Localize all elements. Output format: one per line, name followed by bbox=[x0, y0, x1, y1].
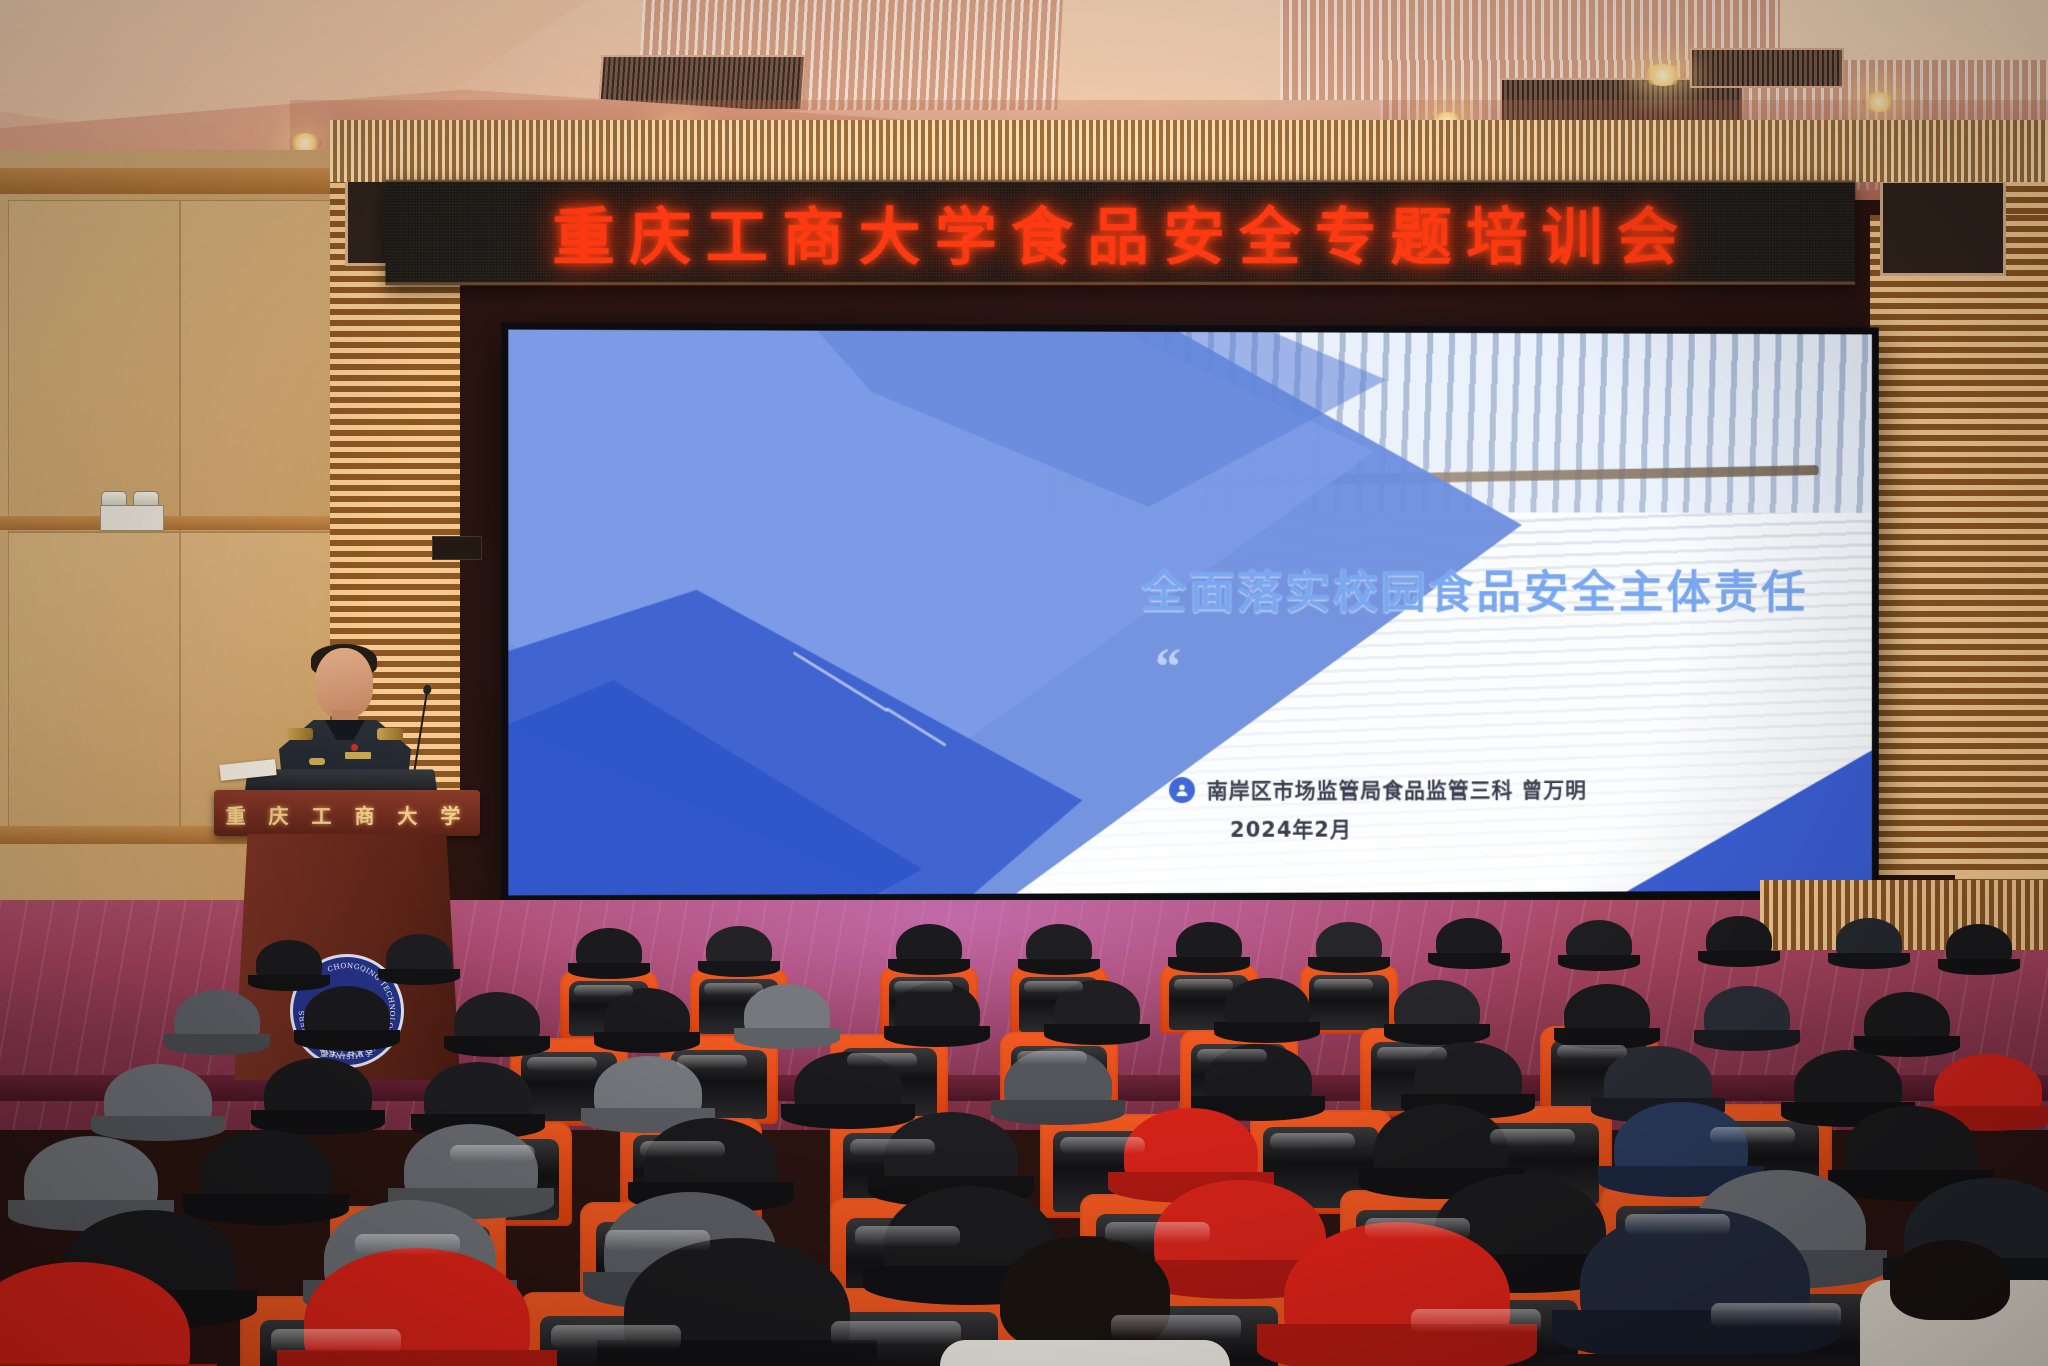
cap bbox=[1394, 980, 1480, 1042]
cap bbox=[174, 990, 260, 1052]
cap bbox=[1564, 984, 1650, 1046]
audience-member-front bbox=[960, 1236, 1220, 1366]
presentation-screen: 全面落实校园食品安全主体责任 “ 南岸区市场监管局食品监管三科 曾万明 2024… bbox=[501, 322, 1879, 902]
podium-label: 重 庆 工 商 大 学 bbox=[214, 800, 480, 829]
slide-date: 2024年2月 bbox=[1230, 814, 1352, 844]
downlight-icon bbox=[1862, 92, 1896, 112]
wall-switch-plate[interactable] bbox=[432, 536, 482, 560]
audience-member bbox=[1430, 918, 1510, 984]
wood-slat-wall bbox=[1870, 215, 2048, 875]
speaker-epaulette bbox=[377, 728, 403, 740]
speaker-lapel-pin bbox=[351, 744, 358, 751]
cap bbox=[0, 1262, 190, 1366]
cap bbox=[1284, 1222, 1510, 1366]
slide-presenter-name: 南岸区市场监管局食品监管三科 曾万明 bbox=[1207, 774, 1587, 805]
audience-member bbox=[1940, 924, 2020, 990]
cap bbox=[1224, 978, 1310, 1040]
audience-member bbox=[890, 924, 970, 990]
banner-top-wood-trim bbox=[330, 120, 2048, 182]
slide-title: 全面落实校园食品安全主体责任 bbox=[1141, 556, 1808, 621]
audience-member-front bbox=[1860, 1240, 2048, 1366]
speaker-chest-emblem bbox=[309, 758, 325, 765]
audience-member bbox=[1560, 920, 1640, 986]
cap bbox=[1946, 924, 2012, 972]
cap bbox=[1316, 922, 1382, 970]
cap bbox=[1704, 986, 1790, 1048]
audience-member-front bbox=[1280, 1222, 1530, 1366]
audience-member bbox=[570, 928, 650, 994]
auditorium-scene: 重庆工商大学食品安全专题培训会 全面落实校园食品安全主体责任 “ bbox=[0, 0, 2048, 1366]
cap bbox=[604, 988, 690, 1050]
cap bbox=[199, 1130, 333, 1222]
cap bbox=[264, 1058, 372, 1132]
ceiling-vent bbox=[1690, 48, 1844, 88]
cap bbox=[256, 940, 322, 988]
projection-window bbox=[1880, 180, 2006, 276]
cap bbox=[1436, 918, 1502, 966]
person-icon bbox=[1169, 777, 1195, 803]
cap bbox=[1864, 992, 1950, 1054]
cap bbox=[1026, 924, 1092, 972]
slide: 全面落实校园食品安全主体责任 “ 南岸区市场监管局食品监管三科 曾万明 2024… bbox=[508, 330, 1872, 896]
slide-quote-mark: “ bbox=[1155, 652, 1181, 683]
audience-member bbox=[700, 926, 780, 992]
cap bbox=[576, 928, 642, 976]
cap bbox=[454, 992, 540, 1054]
audience-member bbox=[1830, 918, 1910, 984]
wall-trim bbox=[0, 516, 380, 530]
cap bbox=[104, 1064, 212, 1138]
slide-presenter-row: 南岸区市场监管局食品监管三科 曾万明 bbox=[1169, 774, 1587, 805]
cap bbox=[1706, 916, 1772, 964]
audience-member bbox=[1700, 916, 1780, 982]
cap bbox=[304, 986, 390, 1048]
wall-panel bbox=[8, 200, 180, 532]
audience-member-front bbox=[0, 1262, 210, 1366]
downlight-icon bbox=[1640, 64, 1686, 86]
speaker-head bbox=[315, 648, 373, 718]
audience-area: 新一代 大学食堂 bbox=[0, 1010, 2048, 1366]
cap bbox=[706, 926, 772, 974]
cap bbox=[1176, 922, 1242, 970]
cap bbox=[896, 924, 962, 972]
podium-top: 重 庆 工 商 大 学 bbox=[214, 790, 480, 836]
banner-title: 重庆工商大学食品安全专题培训会 bbox=[385, 187, 1855, 278]
audience-member bbox=[1310, 922, 1390, 988]
speaker-name-badge bbox=[345, 752, 371, 759]
cap bbox=[1836, 918, 1902, 966]
wall-panel bbox=[8, 532, 180, 834]
speaker-epaulette bbox=[287, 728, 313, 740]
led-banner: 重庆工商大学食品安全专题培训会 bbox=[385, 180, 1855, 286]
emergency-light-icon bbox=[95, 485, 167, 529]
cap bbox=[386, 934, 452, 982]
cap bbox=[1566, 920, 1632, 968]
